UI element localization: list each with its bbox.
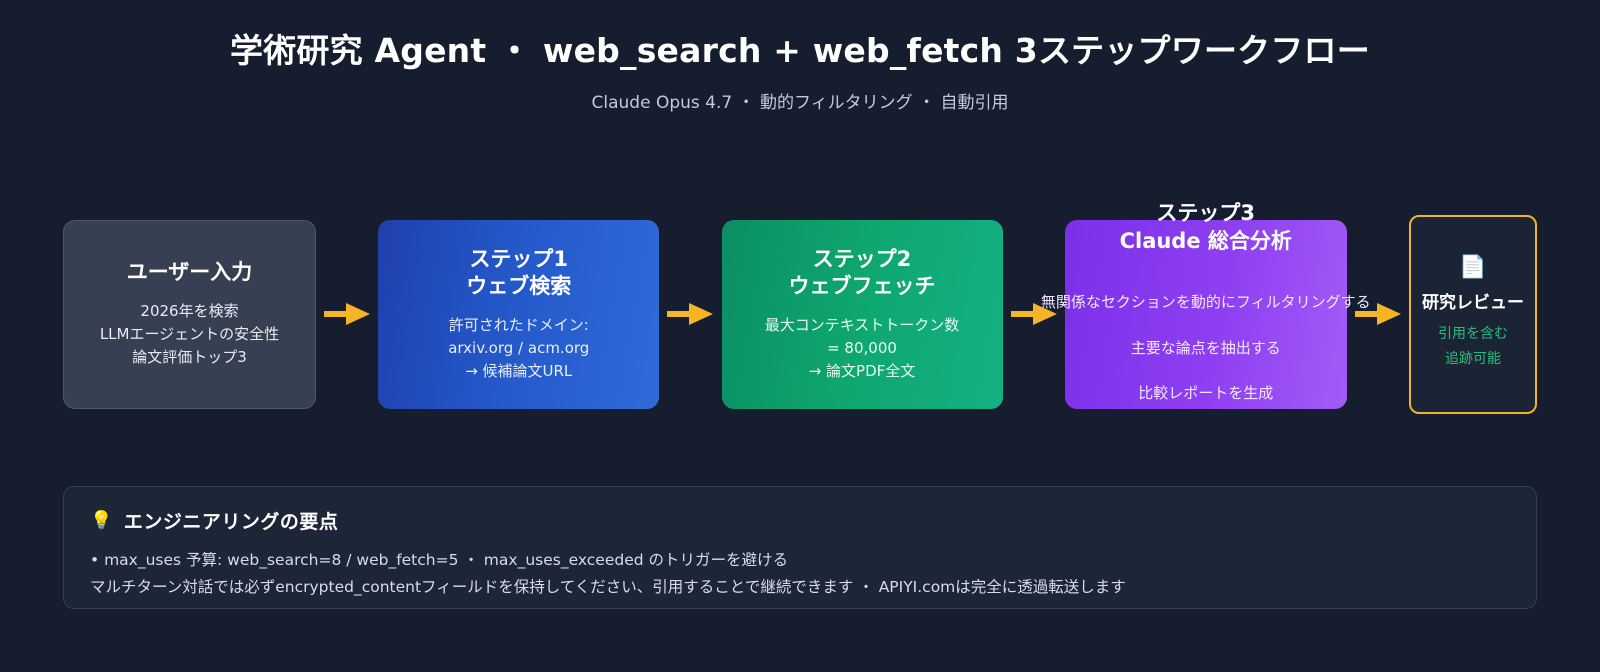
flow-node-claude-analysis[interactable]: ステップ3 Claude 総合分析 無関係なセクションを動的にフィルタリングする…: [1065, 220, 1347, 409]
flow-node-title: ステップ3 Claude 総合分析: [1120, 200, 1292, 255]
page-header: 学術研究 Agent ・ web_search + web_fetch 3ステッ…: [0, 0, 1600, 113]
flow-node-title: ステップ2 ウェブフェッチ: [789, 246, 936, 301]
flow-node-body: 許可されたドメイン: arxiv.org / acm.org → 候補論文URL: [384, 314, 654, 382]
flow-arrow-3: [1003, 218, 1065, 410]
workflow-diagram: ユーザー入力 2026年を検索 LLMエージェントの安全性 論文評価トップ3 ス…: [0, 218, 1600, 410]
flow-node-body: 最大コンテキストトークン数 = 80,000 → 論文PDF全文: [726, 314, 998, 382]
result-subtitle: 引用を含む 追跡可能: [1438, 322, 1508, 371]
engineering-notes-panel: 💡 エンジニアリングの要点 • max_uses 予算: web_search=…: [63, 486, 1537, 609]
page-title: 学術研究 Agent ・ web_search + web_fetch 3ステッ…: [0, 30, 1600, 71]
page-subtitle: Claude Opus 4.7 ・ 動的フィルタリング ・ 自動引用: [0, 88, 1600, 113]
flow-arrow-2: [659, 218, 721, 410]
lightbulb-icon: 💡: [90, 512, 113, 530]
flow-node-research-review[interactable]: 📄 研究レビュー 引用を含む 追跡可能: [1409, 215, 1537, 414]
flow-node-title: ユーザー入力: [127, 259, 253, 287]
arrow-right-icon: [667, 301, 713, 327]
notes-line: マルチターン対話では必ずencrypted_contentフィールドを保持してく…: [90, 575, 1510, 600]
arrow-right-icon: [1011, 301, 1057, 327]
flow-arrow-1: [316, 218, 378, 410]
notes-line: • max_uses 予算: web_search=8 / web_fetch=…: [90, 548, 1510, 573]
arrow-right-icon: [324, 301, 370, 327]
pages-document-icon: 📄: [1459, 257, 1486, 279]
flow-node-body: 2026年を検索 LLMエージェントの安全性 論文評価トップ3: [70, 300, 310, 368]
flow-node-web-fetch[interactable]: ステップ2 ウェブフェッチ 最大コンテキストトークン数 = 80,000 → 論…: [722, 220, 1003, 409]
notes-title: 💡 エンジニアリングの要点: [90, 507, 1510, 534]
result-title: 研究レビュー: [1422, 288, 1524, 313]
flow-node-title: ステップ1 ウェブ検索: [466, 246, 571, 301]
flow-node-user-input[interactable]: ユーザー入力 2026年を検索 LLMエージェントの安全性 論文評価トップ3: [63, 220, 316, 409]
arrow-right-icon: [1355, 301, 1401, 327]
flow-arrow-4: [1347, 218, 1409, 410]
notes-title-text: エンジニアリングの要点: [124, 507, 339, 534]
flow-node-web-search[interactable]: ステップ1 ウェブ検索 許可されたドメイン: arxiv.org / acm.o…: [378, 220, 659, 409]
